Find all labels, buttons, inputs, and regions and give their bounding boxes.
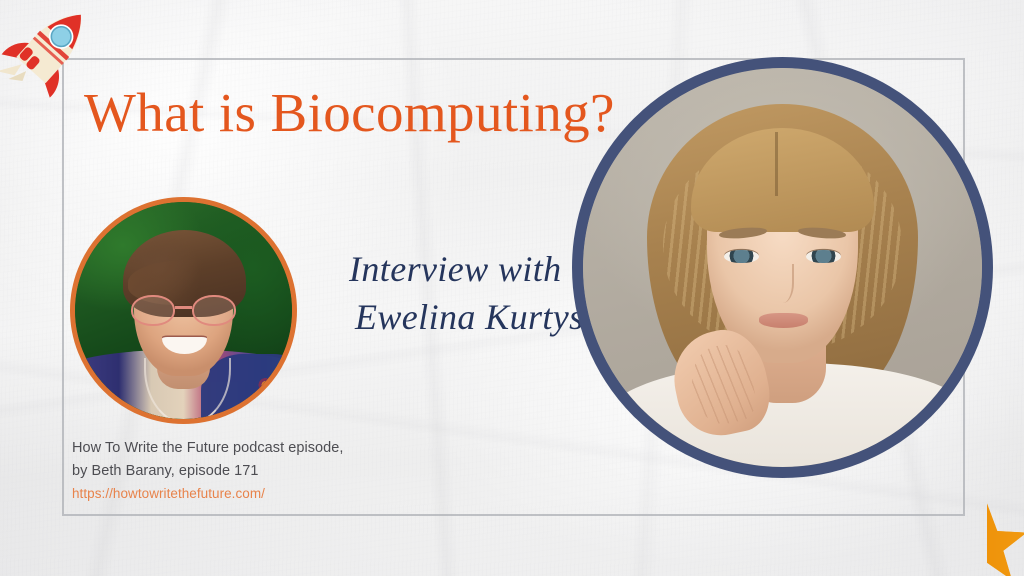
host-portrait-image [75,202,292,419]
guest-eye-left [724,250,758,264]
host-portrait-avatar [70,197,297,424]
page-title: What is Biocomputing? [84,84,615,142]
host-eyeglass-bridge [175,306,192,308]
website-url[interactable]: https://howtowritethefuture.com/ [72,486,265,501]
host-eyeglasses [131,295,235,325]
guest-lips [759,313,809,327]
podcast-title-card: What is Biocomputing? Interview with Ewe… [0,0,1024,576]
rocket-icon [0,0,104,104]
guest-portrait-avatar [572,57,993,478]
interview-subtitle-line-1: Interview with [349,246,584,294]
guest-name-label: Ewelina Kurtys [349,294,584,342]
episode-credit: How To Write the Future podcast episode,… [72,437,343,483]
interview-subtitle: Interview with Ewelina Kurtys [349,246,584,342]
guest-eye-right [806,250,840,264]
host-eyeglass-lens-right [192,295,236,325]
guest-portrait-image [583,68,982,467]
episode-credit-line-1: How To Write the Future podcast episode, [72,437,343,460]
episode-credit-line-2: by Beth Barany, episode 171 [72,460,343,483]
host-eyeglass-lens-left [131,295,175,325]
star-icon [944,500,1024,576]
